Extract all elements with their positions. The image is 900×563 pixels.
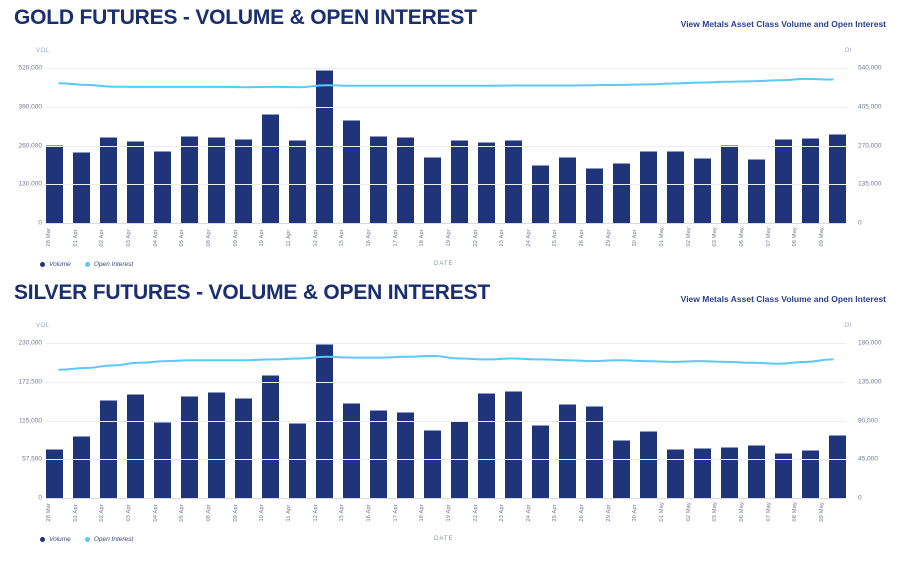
gold-x-tick-label: 05 Apr — [179, 227, 206, 247]
gold-x-tick-label: 04 Apr — [153, 227, 180, 247]
silver-panel-header: SILVER FUTURES - VOLUME & OPEN INTEREST … — [0, 275, 900, 315]
gold-legend-item[interactable]: Open Interest — [85, 261, 133, 268]
gold-x-tick-label: 17 Apr — [393, 227, 420, 247]
gold-x-tick-label: 02 Apr — [99, 227, 126, 247]
silver-chart-title: SILVER FUTURES - VOLUME & OPEN INTEREST — [14, 281, 490, 305]
silver-plot-area: VOL OI 057,500115,000172,500230,000 045,… — [0, 315, 900, 550]
silver-x-tick-label: 06 May — [739, 502, 766, 522]
silver-legend-dot-icon — [40, 537, 45, 542]
gold-panel-header: GOLD FUTURES - VOLUME & OPEN INTEREST Vi… — [0, 0, 900, 40]
silver-x-tick-label: 01 May — [659, 502, 686, 522]
gold-x-tick-label: 02 May — [686, 227, 713, 247]
gold-plot-area: VOL OI 0130,000260,000390,000520,000 013… — [0, 40, 900, 275]
gold-x-tick-label: 10 Apr — [259, 227, 286, 247]
silver-legend-item[interactable]: Volume — [40, 536, 71, 543]
gold-x-tick-label: 08 Apr — [206, 227, 233, 247]
gold-x-tick-label: 18 Apr — [419, 227, 446, 247]
gold-gridline — [46, 107, 846, 108]
silver-metals-link[interactable]: View Metals Asset Class Volume and Open … — [681, 294, 886, 304]
silver-x-tick-label: 17 Apr — [393, 502, 420, 522]
gold-x-tick-label: 23 Apr — [499, 227, 526, 247]
gold-x-tick-label: 25 Apr — [552, 227, 579, 247]
silver-x-tick-label: 10 Apr — [259, 502, 286, 522]
silver-x-tick-label: 05 Apr — [179, 502, 206, 522]
gold-x-tick-label: 01 May — [659, 227, 686, 247]
gold-legend-dot-icon — [85, 262, 90, 267]
silver-x-tick-label: 02 Apr — [99, 502, 126, 522]
silver-x-tick-label: 22 Apr — [473, 502, 500, 522]
silver-x-tick-label: 29 Apr — [606, 502, 633, 522]
silver-x-tick-label: 26 Apr — [579, 502, 606, 522]
silver-gridline — [46, 498, 846, 499]
gold-x-tick-label: 08 May — [792, 227, 819, 247]
silver-x-tick-label: 15 Apr — [339, 502, 366, 522]
gold-x-tick-label: 06 May — [739, 227, 766, 247]
silver-gridline — [46, 459, 846, 460]
silver-x-tick-label: 07 May — [766, 502, 793, 522]
gold-x-tick-label: 16 Apr — [366, 227, 393, 247]
silver-x-tick-label: 28 Mar — [46, 502, 73, 522]
gold-legend-dot-icon — [40, 262, 45, 267]
silver-x-tick-label: 30 Apr — [632, 502, 659, 522]
silver-x-tick-label: 08 Apr — [206, 502, 233, 522]
silver-legend-label: Open Interest — [94, 536, 133, 543]
silver-x-tick-label: 24 Apr — [526, 502, 553, 522]
gold-panel: GOLD FUTURES - VOLUME & OPEN INTEREST Vi… — [0, 0, 900, 275]
silver-x-tick-label: 12 Apr — [313, 502, 340, 522]
silver-x-tick-label: 19 Apr — [446, 502, 473, 522]
silver-x-tick-label: 25 Apr — [552, 502, 579, 522]
gold-legend-label: Open Interest — [94, 261, 133, 268]
gold-legend-item[interactable]: Volume — [40, 261, 71, 268]
gold-x-tick-label: 11 Apr — [286, 227, 313, 247]
silver-x-tick-label: 11 Apr — [286, 502, 313, 522]
gold-x-tick-label: 09 May — [819, 227, 846, 247]
gold-x-tick-label: 01 Apr — [73, 227, 100, 247]
silver-legend-item[interactable]: Open Interest — [85, 536, 133, 543]
gold-gridline — [46, 146, 846, 147]
gold-x-tick-label: 30 Apr — [632, 227, 659, 247]
gold-x-tick-label: 09 Apr — [233, 227, 260, 247]
gold-legend: VolumeOpen Interest — [40, 261, 133, 268]
silver-x-axis-labels: 28 Mar01 Apr02 Apr03 Apr04 Apr05 Apr08 A… — [46, 502, 846, 522]
gold-x-axis-labels: 28 Mar01 Apr02 Apr03 Apr04 Apr05 Apr08 A… — [46, 227, 846, 247]
gold-x-tick-label: 22 Apr — [473, 227, 500, 247]
gold-x-tick-label: 26 Apr — [579, 227, 606, 247]
gold-x-axis-title: DATE — [434, 261, 454, 267]
gold-gridline — [46, 184, 846, 185]
silver-x-tick-label: 04 Apr — [153, 502, 180, 522]
gold-metals-link[interactable]: View Metals Asset Class Volume and Open … — [681, 19, 886, 29]
silver-x-tick-label: 09 May — [819, 502, 846, 522]
silver-x-tick-label: 03 Apr — [126, 502, 153, 522]
gold-x-tick-label: 03 May — [712, 227, 739, 247]
silver-panel: SILVER FUTURES - VOLUME & OPEN INTEREST … — [0, 275, 900, 550]
silver-x-axis-title: DATE — [434, 536, 454, 542]
silver-legend: VolumeOpen Interest — [40, 536, 133, 543]
silver-gridline — [46, 343, 846, 344]
silver-gridline — [46, 421, 846, 422]
gold-legend-label: Volume — [49, 261, 71, 268]
silver-x-tick-label: 01 Apr — [73, 502, 100, 522]
silver-x-tick-label: 02 May — [686, 502, 713, 522]
silver-x-tick-label: 18 Apr — [419, 502, 446, 522]
silver-legend-label: Volume — [49, 536, 71, 543]
gold-x-tick-label: 28 Mar — [46, 227, 73, 247]
gold-x-tick-label: 15 Apr — [339, 227, 366, 247]
silver-x-tick-label: 23 Apr — [499, 502, 526, 522]
silver-x-tick-label: 08 May — [792, 502, 819, 522]
silver-x-tick-label: 09 Apr — [233, 502, 260, 522]
gold-x-tick-label: 07 May — [766, 227, 793, 247]
gold-x-tick-label: 24 Apr — [526, 227, 553, 247]
gold-x-tick-label: 12 Apr — [313, 227, 340, 247]
silver-legend-dot-icon — [85, 537, 90, 542]
gold-x-tick-label: 03 Apr — [126, 227, 153, 247]
gold-x-tick-label: 29 Apr — [606, 227, 633, 247]
silver-gridline — [46, 382, 846, 383]
gold-chart-title: GOLD FUTURES - VOLUME & OPEN INTEREST — [14, 6, 477, 30]
silver-x-tick-label: 03 May — [712, 502, 739, 522]
gold-gridline — [46, 223, 846, 224]
gold-x-tick-label: 19 Apr — [446, 227, 473, 247]
gold-gridline — [46, 68, 846, 69]
silver-x-tick-label: 16 Apr — [366, 502, 393, 522]
